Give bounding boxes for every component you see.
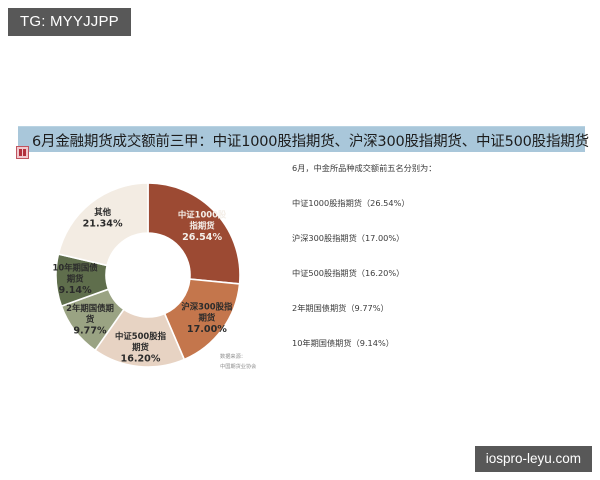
donut-slice-value: 9.14% xyxy=(58,285,92,296)
donut-slice-label: 其他 xyxy=(94,207,111,217)
ranking-item: 2年期国债期货（9.77%） xyxy=(292,302,542,314)
donut-slice-label: 沪深300股指 xyxy=(181,302,233,312)
ranking-list: 中证1000股指期货（26.54%）沪深300股指期货（17.00%）中证500… xyxy=(292,197,542,349)
article-container: 6月金融期货成交额前三甲：中证1000股指期货、沪深300股指期货、中证500股… xyxy=(0,120,600,390)
data-source-note: 数据来源： 中国期货业协会 xyxy=(220,353,256,373)
data-source-label: 数据来源： xyxy=(220,353,256,363)
donut-slice-label: 中证500股指 xyxy=(115,331,167,341)
site-watermark-badge: iospro-leyu.com xyxy=(475,446,592,473)
donut-slice-value: 21.34% xyxy=(83,218,123,229)
page-title: 6月金融期货成交额前三甲：中证1000股指期货、沪深300股指期货、中证500股… xyxy=(32,130,589,151)
ranking-item: 中证1000股指期货（26.54%） xyxy=(292,197,542,209)
donut-slice-label: 中证1000股 xyxy=(178,209,227,219)
donut-slice-value: 26.54% xyxy=(182,232,222,243)
ranking-item: 10年期国债期货（9.14%） xyxy=(292,337,542,349)
donut-slice-value: 17.00% xyxy=(187,324,227,335)
donut-slice-label: 货 xyxy=(85,314,95,324)
ranking-text-column: 6月，中金所品种成交额前五名分别为： 中证1000股指期货（26.54%）沪深3… xyxy=(292,162,542,372)
ranking-item: 中证500股指期货（16.20%） xyxy=(292,267,542,279)
donut-slice-label: 期货 xyxy=(67,274,84,284)
article-title-bar: 6月金融期货成交额前三甲：中证1000股指期货、沪深300股指期货、中证500股… xyxy=(18,126,585,152)
intro-line: 6月，中金所品种成交额前五名分别为： xyxy=(292,162,542,174)
donut-slice-label: 期货 xyxy=(199,313,216,323)
data-source-name: 中国期货业协会 xyxy=(220,363,256,373)
ranking-item: 沪深300股指期货（17.00%） xyxy=(292,232,542,244)
donut-slice-value: 9.77% xyxy=(73,325,107,336)
broken-image-icon xyxy=(16,146,29,159)
donut-slice-label: 期货 xyxy=(132,342,149,352)
donut-chart: 中证1000股指期货26.54%沪深300股指期货17.00%中证500股指期货… xyxy=(30,168,280,388)
donut-slice-label: 指期货 xyxy=(190,220,216,230)
donut-slice-value: 16.20% xyxy=(121,354,161,365)
donut-slice-label: 10年期国债 xyxy=(53,263,99,273)
donut-slice-label: 2年期国债期 xyxy=(66,303,114,313)
telegram-watermark-badge: TG: MYYJJPP xyxy=(8,8,131,36)
